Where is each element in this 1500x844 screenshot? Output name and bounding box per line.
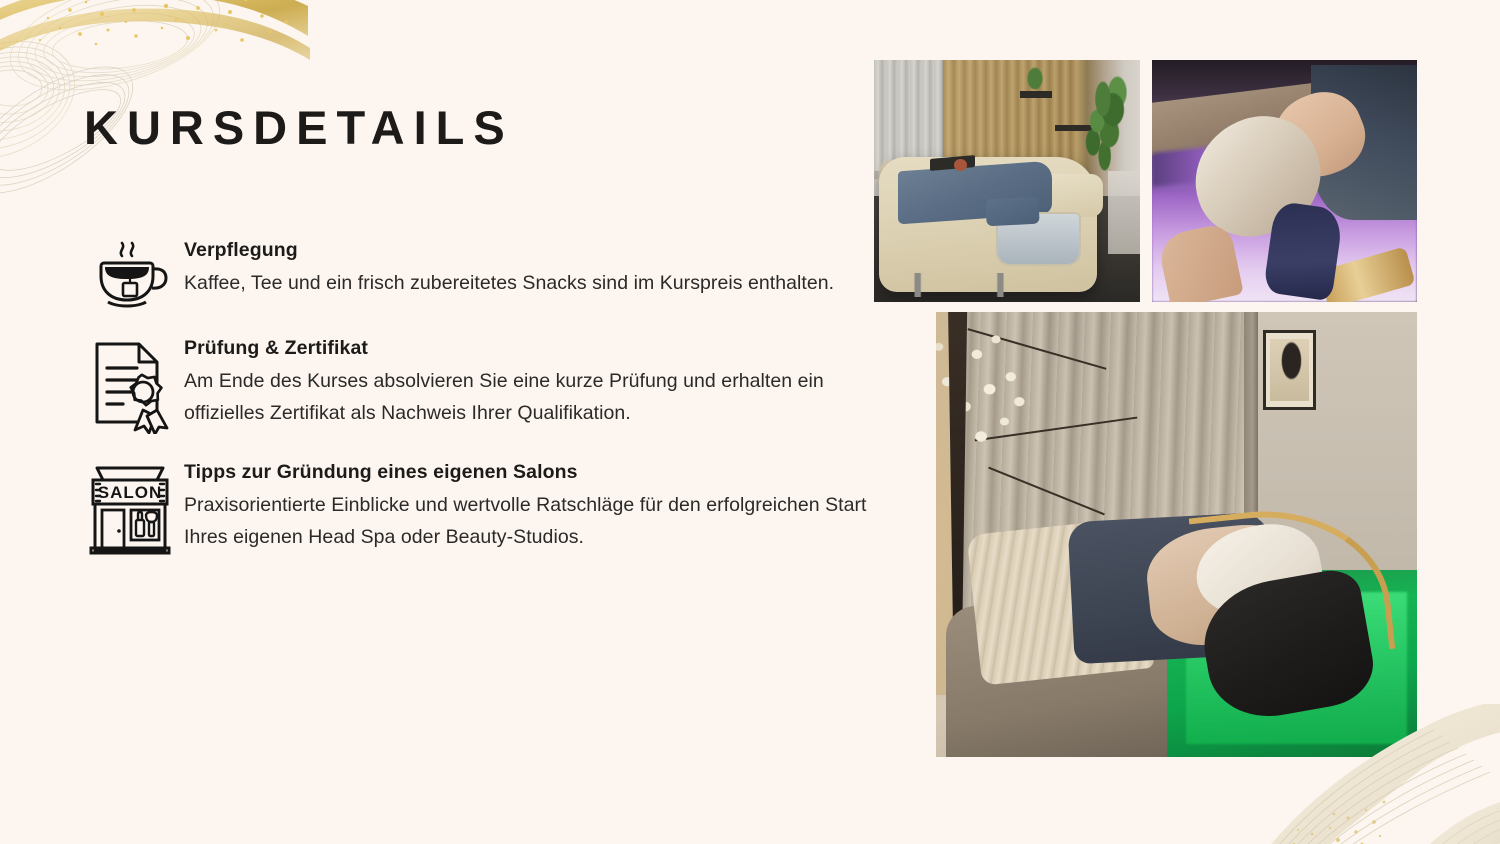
feature-item-pruefung-zertifikat: Prüfung & Zertifikat Am Ende des Kurses …: [82, 336, 882, 434]
teacup-icon: [82, 238, 178, 312]
salon-storefront-icon: SALON: [82, 460, 178, 556]
feature-item-salon-tipps: SALON Tipps zur Gründung eines eigenen S…: [82, 460, 882, 556]
page-title: KURSDETAILS: [84, 104, 514, 151]
feature-item-verpflegung: Verpflegung Kaffee, Tee und ein frisch z…: [82, 238, 882, 312]
purple-led-head-spa-photo: [1152, 60, 1417, 302]
feature-list: Verpflegung Kaffee, Tee und ein frisch z…: [82, 238, 882, 580]
salon-sign-text: SALON: [98, 483, 163, 502]
green-led-head-spa-photo: [936, 312, 1417, 757]
feature-title: Verpflegung: [184, 238, 882, 263]
feature-title: Prüfung & Zertifikat: [184, 336, 882, 361]
certificate-icon: [82, 336, 178, 434]
spa-treatment-room-photo: [874, 60, 1140, 302]
feature-description: Am Ende des Kurses absolvieren Sie eine …: [184, 366, 882, 429]
feature-description: Praxisorientierte Einblicke und wertvoll…: [184, 490, 882, 553]
feature-title: Tipps zur Gründung eines eigenen Salons: [184, 460, 882, 485]
feature-description: Kaffee, Tee und ein frisch zubereitetes …: [184, 268, 882, 300]
slide-kursdetails: KURSDETAILS: [0, 0, 1500, 844]
